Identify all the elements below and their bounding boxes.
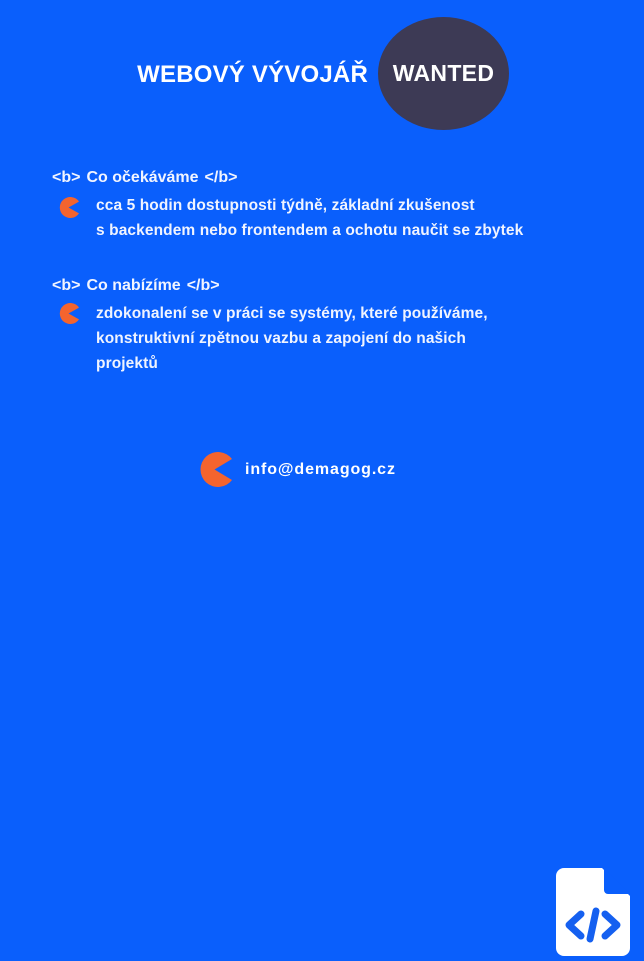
page-title: WEBOVÝ VÝVOJÁŘ [0, 60, 368, 89]
contact-email[interactable]: info@demagog.cz [245, 462, 396, 478]
body-line: konstruktivní zpětnou vazbu a zapojení d… [96, 326, 644, 351]
demagog-pacman-logo [197, 452, 232, 487]
pacman-bullet-icon [58, 197, 79, 218]
wanted-badge: WANTED [378, 17, 509, 130]
section-heading: <b>Co očekáváme</b> [0, 167, 644, 193]
section-heading-label: Co očekáváme [80, 167, 204, 189]
code-file-icon [556, 868, 630, 956]
pacman-bullet-icon [58, 303, 79, 324]
bullet-row: cca 5 hodin dostupnosti týdně, základní … [0, 193, 644, 243]
section-heading-label: Co nabízíme [80, 275, 186, 297]
wanted-badge-label: WANTED [393, 62, 494, 85]
bullet-row: zdokonalení se v práci se systémy, které… [0, 301, 644, 376]
bold-tag-close: </b> [205, 169, 238, 186]
poster-canvas: WEBOVÝ VÝVOJÁŘ WANTED <b>Co očekáváme</b… [0, 0, 644, 540]
body-line: cca 5 hodin dostupnosti týdně, základní … [96, 193, 644, 218]
body-line: s backendem nebo frontendem a ochotu nau… [96, 218, 644, 243]
body-line: zdokonalení se v práci se systémy, které… [96, 301, 644, 326]
contact-block: info@demagog.cz [197, 452, 396, 487]
section-offer: <b>Co nabízíme</b> zdokonalení se v prác… [0, 275, 644, 376]
body-line: projektů [96, 351, 644, 376]
section-expectations: <b>Co očekáváme</b> cca 5 hodin dostupno… [0, 167, 644, 243]
bold-tag-open: <b> [52, 277, 80, 294]
poster-header: WEBOVÝ VÝVOJÁŘ WANTED [0, 0, 644, 145]
bold-tag-close: </b> [187, 277, 220, 294]
section-heading: <b>Co nabízíme</b> [0, 275, 644, 301]
poster-footer: info@demagog.cz [0, 440, 644, 540]
bold-tag-open: <b> [52, 169, 80, 186]
